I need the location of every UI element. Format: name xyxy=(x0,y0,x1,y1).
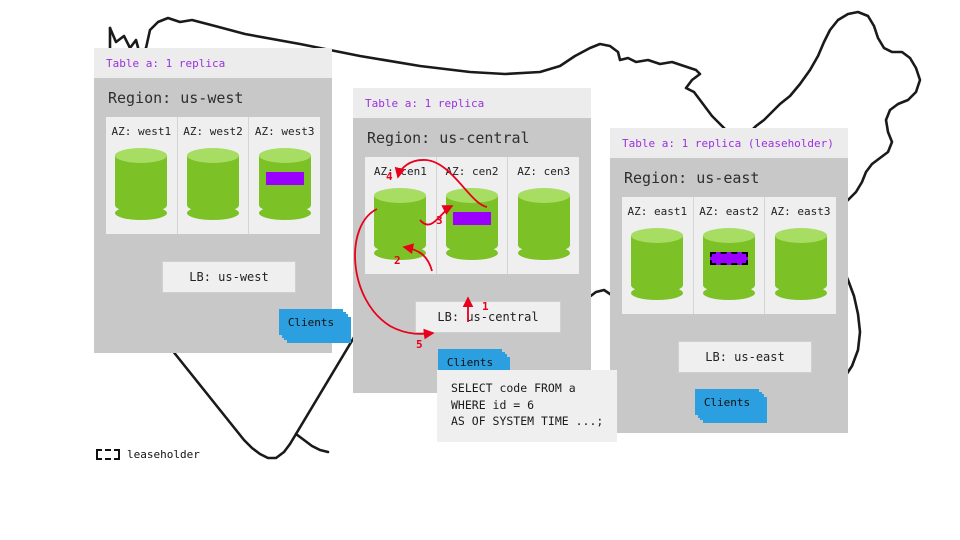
az-cell-east1[interactable]: AZ: east1 xyxy=(622,197,693,314)
load-balancer-us-east[interactable]: LB: us-east xyxy=(678,341,812,373)
node-cylinder-east3[interactable] xyxy=(775,228,827,300)
az-cell-cen2[interactable]: AZ: cen2 xyxy=(436,157,508,274)
cylinder-bottom xyxy=(115,206,167,220)
node-cylinder-west2[interactable] xyxy=(187,148,239,220)
region-header-us-east: Table a: 1 replica (leaseholder) xyxy=(610,128,848,158)
az-cell-east2[interactable]: AZ: east2 xyxy=(693,197,765,314)
replica-badge-cen2 xyxy=(453,212,491,225)
az-label-east1: AZ: east1 xyxy=(628,205,688,218)
node-cylinder-cen1[interactable] xyxy=(374,188,426,260)
cylinder-body xyxy=(775,235,827,293)
region-body-us-west: Region: us-west AZ: west1 AZ: west2 xyxy=(94,78,332,353)
az-label-east2: AZ: east2 xyxy=(699,205,759,218)
cylinder-top xyxy=(775,228,827,243)
cylinder-bottom xyxy=(374,246,426,260)
cylinder-top xyxy=(187,148,239,163)
cylinder-bottom xyxy=(187,206,239,220)
legend: leaseholder xyxy=(96,448,200,461)
cylinder-bottom xyxy=(446,246,498,260)
diagram-canvas: Table a: 1 replica Region: us-west AZ: w… xyxy=(0,0,960,540)
az-cell-cen3[interactable]: AZ: cen3 xyxy=(507,157,579,274)
node-cylinder-west3[interactable] xyxy=(259,148,311,220)
cylinder-bottom xyxy=(703,286,755,300)
cylinder-top xyxy=(631,228,683,243)
clients-stack-us-east[interactable]: Clients xyxy=(695,389,759,415)
cylinder-body xyxy=(631,235,683,293)
region-card-us-west: Table a: 1 replica Region: us-west AZ: w… xyxy=(94,48,332,353)
cylinder-body xyxy=(187,155,239,213)
cylinder-bottom xyxy=(259,206,311,220)
az-row-us-central: AZ: cen1 AZ: cen2 xyxy=(365,157,579,274)
region-title-us-west: Region: us-west xyxy=(94,78,332,117)
legend-leaseholder-label: leaseholder xyxy=(127,448,200,461)
az-cell-east3[interactable]: AZ: east3 xyxy=(764,197,836,314)
cylinder-top xyxy=(446,188,498,203)
region-title-us-east: Region: us-east xyxy=(610,158,848,197)
cylinder-body xyxy=(374,195,426,253)
cylinder-top xyxy=(115,148,167,163)
node-cylinder-cen2[interactable] xyxy=(446,188,498,260)
region-card-us-east: Table a: 1 replica (leaseholder) Region:… xyxy=(610,128,848,433)
cylinder-body xyxy=(115,155,167,213)
cylinder-top xyxy=(518,188,570,203)
az-cell-west1[interactable]: AZ: west1 xyxy=(106,117,177,234)
load-balancer-us-west[interactable]: LB: us-west xyxy=(162,261,296,293)
clients-label-us-east: Clients xyxy=(695,389,759,415)
node-cylinder-east2[interactable] xyxy=(703,228,755,300)
replica-badge-east2-leaseholder xyxy=(710,252,748,265)
region-body-us-east: Region: us-east AZ: east1 AZ: east2 xyxy=(610,158,848,433)
az-cell-west3[interactable]: AZ: west3 xyxy=(248,117,320,234)
az-label-west2: AZ: west2 xyxy=(183,125,243,138)
region-card-us-central: Table a: 1 replica Region: us-central AZ… xyxy=(353,88,591,393)
az-label-west3: AZ: west3 xyxy=(255,125,315,138)
clients-label-us-west: Clients xyxy=(279,309,343,335)
node-cylinder-west1[interactable] xyxy=(115,148,167,220)
az-label-cen2: AZ: cen2 xyxy=(446,165,499,178)
region-body-us-central: Region: us-central AZ: cen1 AZ: cen2 xyxy=(353,118,591,393)
az-cell-west2[interactable]: AZ: west2 xyxy=(177,117,249,234)
cylinder-body xyxy=(518,195,570,253)
az-row-us-east: AZ: east1 AZ: east2 xyxy=(622,197,836,314)
cylinder-bottom xyxy=(775,286,827,300)
leaseholder-swatch-icon xyxy=(96,449,120,460)
az-row-us-west: AZ: west1 AZ: west2 AZ xyxy=(106,117,320,234)
load-balancer-us-central[interactable]: LB: us-central xyxy=(415,301,561,333)
cylinder-top xyxy=(703,228,755,243)
replica-badge-west3 xyxy=(266,172,304,185)
cylinder-bottom xyxy=(518,246,570,260)
region-header-us-west: Table a: 1 replica xyxy=(94,48,332,78)
node-cylinder-east1[interactable] xyxy=(631,228,683,300)
az-cell-cen1[interactable]: AZ: cen1 xyxy=(365,157,436,274)
node-cylinder-cen3[interactable] xyxy=(518,188,570,260)
region-header-us-central: Table a: 1 replica xyxy=(353,88,591,118)
az-label-west1: AZ: west1 xyxy=(112,125,172,138)
cylinder-top xyxy=(259,148,311,163)
clients-stack-us-west[interactable]: Clients xyxy=(279,309,343,335)
region-title-us-central: Region: us-central xyxy=(353,118,591,157)
cylinder-top xyxy=(374,188,426,203)
az-label-cen3: AZ: cen3 xyxy=(517,165,570,178)
sql-query-box: SELECT code FROM a WHERE id = 6 AS OF SY… xyxy=(437,370,617,442)
az-label-cen1: AZ: cen1 xyxy=(374,165,427,178)
az-label-east3: AZ: east3 xyxy=(771,205,831,218)
cylinder-bottom xyxy=(631,286,683,300)
